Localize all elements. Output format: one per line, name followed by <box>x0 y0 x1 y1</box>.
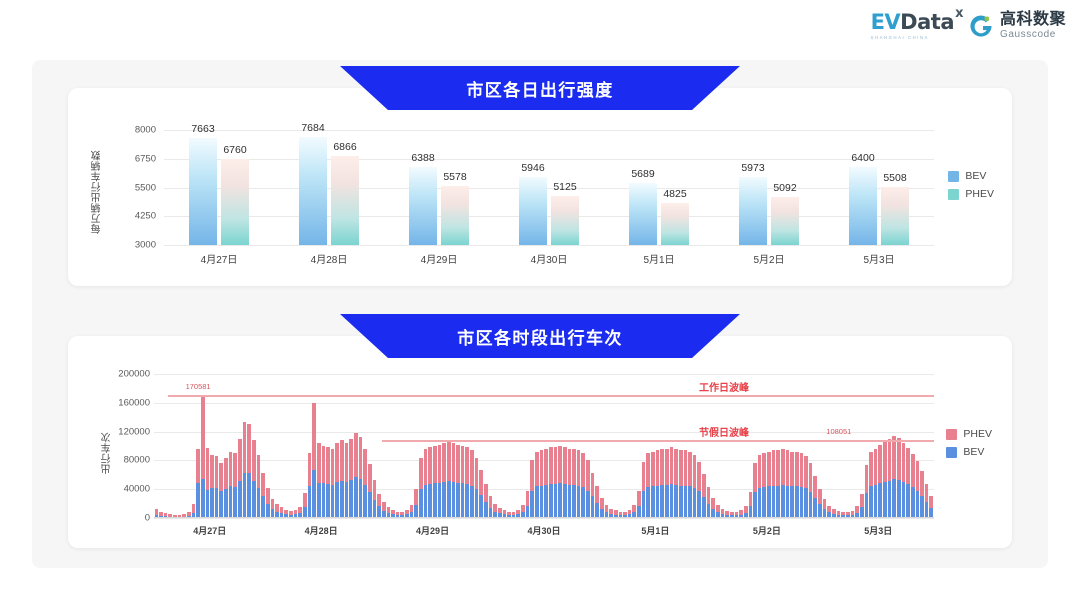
chart1-x-tick-label: 4月28日 <box>311 251 348 266</box>
chart2-segment-bev[interactable] <box>697 491 701 518</box>
chart2-segment-bev[interactable] <box>800 487 804 518</box>
chart2-segment-phev[interactable] <box>312 403 316 471</box>
chart2-segment-phev[interactable] <box>758 455 762 488</box>
chart2-segment-phev[interactable] <box>493 504 497 512</box>
chart2-x-tick-label: 4月30日 <box>527 524 560 537</box>
chart2-segment-phev[interactable] <box>711 498 715 509</box>
chart2-segment-bev[interactable] <box>238 481 242 518</box>
chart2-segment-bev[interactable] <box>535 486 539 518</box>
chart2-segment-phev[interactable] <box>414 489 418 505</box>
chart2-segment-phev[interactable] <box>869 452 873 487</box>
chart2-segment-phev[interactable] <box>540 450 544 485</box>
chart1-bar-value-label: 5946 <box>521 162 544 174</box>
chart2-segment-phev[interactable] <box>363 449 367 485</box>
chart2-segment-phev[interactable] <box>331 449 335 485</box>
gausscode-logo: 高科数聚 Gausscode <box>968 12 1066 40</box>
chart2-segment-phev[interactable] <box>925 484 929 502</box>
chart2-segment-phev[interactable] <box>554 447 558 484</box>
chart2-segment-bev[interactable] <box>363 485 367 518</box>
chart2-segment-bev[interactable] <box>530 491 534 518</box>
chart2-legend-item-bev[interactable]: BEV <box>946 446 992 458</box>
chart2-segment-bev[interactable] <box>354 477 358 518</box>
chart2-segment-phev[interactable] <box>595 486 599 503</box>
chart2-segment-bev[interactable] <box>869 486 873 518</box>
chart2-segment-bev[interactable] <box>586 491 590 518</box>
chart2-segment-phev[interactable] <box>484 484 488 502</box>
chart1-bar-bev[interactable]: 5946 <box>519 177 547 245</box>
gausscode-logo-cn: 高科数聚 <box>1000 12 1066 28</box>
chart2-segment-phev[interactable] <box>865 465 869 493</box>
chart2-segment-bev[interactable] <box>902 482 906 518</box>
chart2-segment-phev[interactable] <box>442 443 446 482</box>
chart2-segment-phev[interactable] <box>605 505 609 512</box>
chart2-segment-bev[interactable] <box>196 483 200 518</box>
chart2-segment-phev[interactable] <box>354 433 358 477</box>
chart1-bar-phev[interactable]: 4825 <box>661 203 689 245</box>
chart2-segment-bev[interactable] <box>892 479 896 518</box>
chart2-segment-bev[interactable] <box>906 484 910 518</box>
chart2-segment-phev[interactable] <box>479 470 483 495</box>
chart2-x-tick-label: 4月28日 <box>305 524 338 537</box>
chart2-segment-bev[interactable] <box>243 473 247 518</box>
chart2-legend-item-phev[interactable]: PHEV <box>946 428 992 440</box>
chart2-segment-bev[interactable] <box>484 502 488 518</box>
chart2-segment-bev[interactable] <box>419 489 423 518</box>
chart1-legend-item-bev[interactable]: BEV <box>948 170 994 182</box>
chart2-segment-phev[interactable] <box>577 450 581 485</box>
chart2-segment-phev[interactable] <box>359 437 363 479</box>
chart2-segment-bev[interactable] <box>795 486 799 518</box>
chart2-segment-phev[interactable] <box>410 505 414 512</box>
chart2-segment-bev[interactable] <box>373 500 377 518</box>
chart2-segment-phev[interactable] <box>526 491 530 506</box>
chart2-segment-bev[interactable] <box>577 486 581 518</box>
chart2-segment-phev[interactable] <box>475 458 479 490</box>
chart2-segment-phev[interactable] <box>489 496 493 508</box>
chart2-x-tick-label: 5月1日 <box>641 524 669 537</box>
chart2-segment-bev[interactable] <box>252 481 256 518</box>
chart2-segment-bev[interactable] <box>916 491 920 518</box>
chart2-y-tick-label: 80000 <box>124 455 150 466</box>
chart2-segment-phev[interactable] <box>433 446 437 483</box>
chart2-segment-bev[interactable] <box>925 502 929 518</box>
chart1-plot-area: 7663676076846866638855785946512556894825… <box>164 130 934 245</box>
chart2-y-tick-label: 40000 <box>124 484 150 495</box>
chart2-segment-bev[interactable] <box>335 482 339 518</box>
chart2-segment-bev[interactable] <box>452 482 456 518</box>
chart2-segment-phev[interactable] <box>916 461 920 491</box>
chart2-segment-phev[interactable] <box>568 449 572 485</box>
chart2-segment-bev[interactable] <box>874 485 878 518</box>
chart2-segment-bev[interactable] <box>456 483 460 518</box>
chart2-segment-bev[interactable] <box>558 483 562 518</box>
chart2-segment-bev[interactable] <box>911 487 915 518</box>
chart2-segment-bev[interactable] <box>642 491 646 518</box>
chart2-segment-bev[interactable] <box>646 487 650 518</box>
chart2-segment-phev[interactable] <box>892 436 896 479</box>
chart1-bar-phev[interactable]: 5578 <box>441 186 469 245</box>
chart2-segment-bev[interactable] <box>804 488 808 518</box>
chart1-legend: BEVPHEV <box>948 170 994 200</box>
chart2-segment-phev[interactable] <box>786 450 790 485</box>
chart2-segment-phev[interactable] <box>767 452 771 487</box>
chart2-segment-phev[interactable] <box>660 449 664 485</box>
chart2-segment-phev[interactable] <box>749 492 753 506</box>
chart2-y-tick-label: 200000 <box>118 369 150 380</box>
chart2-segment-phev[interactable] <box>670 447 674 484</box>
chart2-segment-phev[interactable] <box>544 449 548 485</box>
chart2-segment-phev[interactable] <box>233 453 237 487</box>
chart1-bar-group[interactable]: 76636760 <box>189 138 249 245</box>
chart2-segment-phev[interactable] <box>261 473 265 497</box>
chart2-segment-phev[interactable] <box>266 488 270 504</box>
chart2-segment-phev[interactable] <box>591 473 595 497</box>
chart2-segment-bev[interactable] <box>461 483 465 518</box>
chart2-segment-phev[interactable] <box>693 455 697 488</box>
chart2-segment-phev[interactable] <box>702 474 706 497</box>
chart2-segment-phev[interactable] <box>340 440 344 480</box>
chart2-segment-phev[interactable] <box>800 453 804 487</box>
chart2-segment-phev[interactable] <box>521 505 525 512</box>
chart2-segment-phev[interactable] <box>247 424 251 473</box>
chart1-bar-phev[interactable]: 5508 <box>881 187 909 245</box>
chart2-segment-phev[interactable] <box>238 439 242 481</box>
chart2-segment-phev[interactable] <box>888 439 892 481</box>
chart2-y-tick-label: 0 <box>145 513 150 524</box>
chart2-segment-bev[interactable] <box>326 484 330 518</box>
chart2-segment-bev[interactable] <box>215 488 219 518</box>
chart2-segment-bev[interactable] <box>312 470 316 518</box>
chart2-segment-bev[interactable] <box>674 485 678 518</box>
evdata-logo: EVDatax SHANGHAI CHINA <box>871 12 954 40</box>
chart1-bar-bev[interactable]: 6388 <box>409 167 437 245</box>
chart1-bar-bev[interactable]: 6400 <box>849 167 877 245</box>
chart2-segment-phev[interactable] <box>632 505 636 512</box>
chart1-bar-group[interactable]: 59465125 <box>519 177 579 245</box>
chart2-segment-bev[interactable] <box>438 483 442 518</box>
chart2-segment-bev[interactable] <box>665 485 669 518</box>
gausscode-logo-text: 高科数聚 Gausscode <box>1000 12 1066 40</box>
chart2-segment-phev[interactable] <box>920 471 924 495</box>
chart2-segment-bev[interactable] <box>786 486 790 518</box>
chart2-legend: PHEVBEV <box>946 428 992 458</box>
chart2-segment-bev[interactable] <box>233 487 237 518</box>
chart2-gridline <box>154 518 934 519</box>
chart2-segment-bev[interactable] <box>428 484 432 518</box>
chart2-segment-phev[interactable] <box>349 439 353 480</box>
chart2-segment-phev[interactable] <box>679 450 683 485</box>
chart2-segment-phev[interactable] <box>707 487 711 504</box>
chart2-segment-phev[interactable] <box>196 449 200 484</box>
chart2-segment-phev[interactable] <box>549 447 553 484</box>
chart1-y-tick-label: 4250 <box>135 211 156 222</box>
chart2-segment-phev[interactable] <box>317 443 321 483</box>
chart2-segment-phev[interactable] <box>243 422 247 474</box>
chart2-segment-phev[interactable] <box>906 448 910 484</box>
chart2-segment-phev[interactable] <box>860 494 864 508</box>
chart2-segment-bev[interactable] <box>470 486 474 518</box>
chart2-segment-phev[interactable] <box>470 450 474 485</box>
chart1-bars: 7663676076846866638855785946512556894825… <box>164 130 934 245</box>
chart2-segment-phev[interactable] <box>452 443 456 482</box>
chart1-bar-bev[interactable]: 7663 <box>189 138 217 245</box>
chart1-x-ticks: 4月27日4月28日4月29日4月30日5月1日5月2日5月3日 <box>164 248 934 266</box>
banner-title-hourly-trips: 市区各时段出行车次 <box>457 324 623 349</box>
chart1-bar-value-label: 6866 <box>333 141 356 153</box>
chart2-segment-bev[interactable] <box>442 482 446 518</box>
chart2-segment-bev[interactable] <box>660 485 664 518</box>
chart2-segment-bev[interactable] <box>540 486 544 518</box>
chart2-segment-phev[interactable] <box>368 464 372 492</box>
chart2-segment-bev[interactable] <box>920 496 924 518</box>
chart2-segment-bev[interactable] <box>544 485 548 518</box>
chart1-bar-group[interactable]: 64005508 <box>849 167 909 245</box>
chart2-segment-bev[interactable] <box>563 484 567 518</box>
chart2-y-tick-label: 160000 <box>118 397 150 408</box>
chart1-bar-phev[interactable]: 5092 <box>771 197 799 245</box>
chart2-segment-bev[interactable] <box>229 486 233 518</box>
chart2-segment-phev[interactable] <box>684 450 688 485</box>
chart2-segment-phev[interactable] <box>377 494 381 507</box>
chart2-segment-bev[interactable] <box>201 479 205 518</box>
chart2-segment-phev[interactable] <box>345 443 349 482</box>
chart1-bar-group[interactable]: 63885578 <box>409 167 469 245</box>
chart2-segment-bev[interactable] <box>572 485 576 518</box>
gausscode-logo-en: Gausscode <box>1000 30 1066 40</box>
chart2-segment-phev[interactable] <box>855 506 859 513</box>
chart2-segment-phev[interactable] <box>776 450 780 485</box>
chart2-segment-phev[interactable] <box>716 505 720 512</box>
chart2-segment-phev[interactable] <box>206 448 210 490</box>
chart2-segment-phev[interactable] <box>883 442 887 482</box>
chart2-segment-phev[interactable] <box>308 453 312 486</box>
chart2-segment-bev[interactable] <box>702 497 706 518</box>
chart2-segment-bev[interactable] <box>433 483 437 518</box>
chart2-segment-bev[interactable] <box>595 503 599 518</box>
chart2-segment-bev[interactable] <box>679 486 683 518</box>
chart2-segment-phev[interactable] <box>772 450 776 485</box>
chart2-segment-phev[interactable] <box>642 462 646 492</box>
chart2-segment-phev[interactable] <box>929 496 933 508</box>
chart2-segment-phev[interactable] <box>809 463 813 492</box>
chart2-segment-bev[interactable] <box>878 483 882 518</box>
banner-hourly-trips: 市区各时段出行车次 <box>340 314 740 358</box>
chart2-segment-bev[interactable] <box>261 496 265 518</box>
chart2-segment-phev[interactable] <box>210 455 214 488</box>
chart2-segment-phev[interactable] <box>697 462 701 492</box>
chart2-segment-phev[interactable] <box>600 498 604 509</box>
chart2-segment-bev[interactable] <box>206 490 210 518</box>
chart2-segment-bev[interactable] <box>447 481 451 518</box>
chart1-bar-bev[interactable]: 5973 <box>739 177 767 245</box>
chart2-segment-phev[interactable] <box>382 502 386 511</box>
chart2-segment-phev[interactable] <box>637 491 641 506</box>
chart2-segment-phev[interactable] <box>252 440 256 480</box>
chart2-segment-bev[interactable] <box>883 482 887 518</box>
chart2-segment-phev[interactable] <box>215 456 219 488</box>
chart2-segment-phev[interactable] <box>424 449 428 485</box>
chart2-segment-phev[interactable] <box>572 449 576 485</box>
chart2-segment-phev[interactable] <box>902 443 906 482</box>
chart2-segment-phev[interactable] <box>586 460 590 490</box>
chart2-segment-phev[interactable] <box>326 447 330 484</box>
chart2-segment-phev[interactable] <box>257 455 261 487</box>
chart2-segment-phev[interactable] <box>897 438 901 480</box>
chart1-gridline <box>164 245 934 246</box>
chart2-segment-phev[interactable] <box>373 480 377 500</box>
chart2-segment-phev[interactable] <box>275 504 279 511</box>
chart2-segment-bev[interactable] <box>809 492 813 518</box>
chart2-segment-bev[interactable] <box>331 485 335 518</box>
chart2-segment-bev[interactable] <box>465 484 469 518</box>
chart2-segment-bev[interactable] <box>813 498 817 518</box>
chart2-segment-phev[interactable] <box>535 452 539 487</box>
chart2-segment-phev[interactable] <box>790 452 794 487</box>
chart2-segment-bev[interactable] <box>758 488 762 518</box>
chart1-bar-group[interactable]: 56894825 <box>629 183 689 245</box>
chart2-segment-phev[interactable] <box>201 395 205 479</box>
chart1-bar-value-label: 5689 <box>631 168 654 180</box>
chart2-segment-bev[interactable] <box>684 486 688 518</box>
chart1-bar-bev[interactable]: 7684 <box>299 137 327 245</box>
chart1-bar-value-label: 7684 <box>301 122 324 134</box>
chart2-legend-label: PHEV <box>963 428 992 440</box>
chart1-bar-group[interactable]: 59735092 <box>739 177 799 245</box>
chart2-segment-phev[interactable] <box>438 445 442 483</box>
chart2-segment-bev[interactable] <box>308 486 312 518</box>
chart1-legend-item-phev[interactable]: PHEV <box>948 188 994 200</box>
evdata-logo-wordmark: EVDatax <box>871 12 954 33</box>
chart2-segment-bev[interactable] <box>349 480 353 518</box>
chart2-segment-phev[interactable] <box>874 449 878 485</box>
chart2-segment-phev[interactable] <box>795 452 799 487</box>
chart2-segment-phev[interactable] <box>563 447 567 484</box>
chart2-segment-phev[interactable] <box>192 504 196 513</box>
chart2-segment-bev[interactable] <box>767 486 771 518</box>
chart2-segment-phev[interactable] <box>878 445 882 483</box>
chart1-bar-phev[interactable]: 6760 <box>221 159 249 245</box>
chart2-segment-phev[interactable] <box>665 449 669 485</box>
chart2-segment-bev[interactable] <box>424 485 428 518</box>
chart2-bar-column[interactable] <box>929 374 934 518</box>
chart1-bar-phev[interactable]: 6866 <box>331 156 359 245</box>
chart2-segment-bev[interactable] <box>247 473 251 518</box>
chart2-segment-bev[interactable] <box>670 484 674 518</box>
chart2-segment-bev[interactable] <box>888 481 892 518</box>
chart2-segment-bev[interactable] <box>224 489 228 518</box>
chart2-segment-phev[interactable] <box>224 458 228 489</box>
chart2-segment-bev[interactable] <box>568 485 572 518</box>
chart2-segment-bev[interactable] <box>818 504 822 518</box>
chart2-segment-bev[interactable] <box>475 489 479 518</box>
chart2-segment-bev[interactable] <box>340 481 344 518</box>
chart2-segment-phev[interactable] <box>762 453 766 487</box>
chart2-x-tick-label: 5月3日 <box>864 524 892 537</box>
chart2-segment-bev[interactable] <box>210 488 214 518</box>
chart2-segment-phev[interactable] <box>753 463 757 492</box>
chart2-segment-phev[interactable] <box>911 454 915 487</box>
chart2-segment-bev[interactable] <box>865 493 869 518</box>
chart2-segment-bev[interactable] <box>781 485 785 518</box>
chart2-segment-bev[interactable] <box>479 495 483 518</box>
chart2-segment-phev[interactable] <box>530 460 534 490</box>
chart2-segment-bev[interactable] <box>897 480 901 518</box>
chart2-segment-phev[interactable] <box>229 452 233 487</box>
chart2-segment-phev[interactable] <box>461 446 465 483</box>
chart2-segment-bev[interactable] <box>549 484 553 518</box>
chart2-segment-bev[interactable] <box>707 504 711 518</box>
chart2-segment-phev[interactable] <box>823 499 827 509</box>
chart2-segment-bev[interactable] <box>591 496 595 518</box>
chart2-segment-phev[interactable] <box>674 449 678 485</box>
chart2-segment-bev[interactable] <box>266 504 270 518</box>
chart2-segment-phev[interactable] <box>447 442 451 482</box>
chart2-segment-bev[interactable] <box>317 483 321 518</box>
chart2-segment-phev[interactable] <box>781 449 785 485</box>
chart1-bar-value-label: 6400 <box>851 152 874 164</box>
chart2-segment-phev[interactable] <box>651 452 655 487</box>
chart2-segment-bev[interactable] <box>554 484 558 518</box>
chart2-segment-phev[interactable] <box>219 463 223 492</box>
chart2-segment-phev[interactable] <box>558 446 562 483</box>
chart2-segment-phev[interactable] <box>804 456 808 488</box>
chart1-bar-bev[interactable]: 5689 <box>629 183 657 245</box>
chart2-segment-phev[interactable] <box>581 453 585 487</box>
chart2-segment-bev[interactable] <box>322 483 326 518</box>
chart2-segment-bev[interactable] <box>257 488 261 518</box>
chart2-segment-bev[interactable] <box>753 492 757 518</box>
chart2-segment-bev[interactable] <box>345 482 349 518</box>
chart2-segment-phev[interactable] <box>813 476 817 498</box>
chart2-segment-bev[interactable] <box>219 491 223 518</box>
chart2-segment-phev[interactable] <box>419 458 423 490</box>
dashboard-page: EVDatax SHANGHAI CHINA 高科数聚 Gausscode 市区… <box>0 0 1080 608</box>
chart2-segment-bev[interactable] <box>581 487 585 518</box>
chart2-segment-phev[interactable] <box>646 453 650 487</box>
chart2-segment-bev[interactable] <box>368 492 372 518</box>
chart2-segment-bev[interactable] <box>762 487 766 518</box>
chart2-segment-bev[interactable] <box>790 486 794 518</box>
chart2-segment-phev[interactable] <box>322 446 326 483</box>
chart2-segment-phev[interactable] <box>744 506 748 513</box>
chart2-segment-phev[interactable] <box>335 443 339 482</box>
chart2-x-tick-label: 4月27日 <box>193 524 226 537</box>
section-hourly-trips: 市区各时段出行车次 出行车次 工作日波峰节假日波峰170581108051 04… <box>68 336 1012 548</box>
chart2-legend-label: BEV <box>963 446 984 458</box>
chart2-x-ticks: 4月27日4月28日4月29日4月30日5月1日5月2日5月3日 <box>154 521 934 537</box>
chart2-segment-bev[interactable] <box>776 486 780 518</box>
chart2-segment-bev[interactable] <box>656 486 660 518</box>
chart2-segment-phev[interactable] <box>271 499 275 509</box>
chart2-segment-bev[interactable] <box>772 486 776 518</box>
chart2-segment-phev[interactable] <box>428 447 432 484</box>
chart2-segment-bev[interactable] <box>651 486 655 518</box>
chart2-segment-bev[interactable] <box>359 479 363 518</box>
chart2-segment-phev[interactable] <box>818 489 822 505</box>
chart2-segment-phev[interactable] <box>688 452 692 487</box>
chart2-segment-phev[interactable] <box>465 447 469 484</box>
chart1-bar-value-label: 7663 <box>191 123 214 135</box>
chart2-segment-phev[interactable] <box>456 445 460 483</box>
chart2-segment-phev[interactable] <box>303 493 307 507</box>
chart2-x-tick-label: 5月2日 <box>753 524 781 537</box>
chart1-bar-phev[interactable]: 5125 <box>551 196 579 245</box>
chart1-bar-group[interactable]: 76846866 <box>299 137 359 245</box>
chart2-segment-bev[interactable] <box>693 488 697 518</box>
chart1-x-tick-label: 4月29日 <box>421 251 458 266</box>
chart2-segment-bev[interactable] <box>688 486 692 518</box>
chart2-segment-phev[interactable] <box>656 450 660 485</box>
